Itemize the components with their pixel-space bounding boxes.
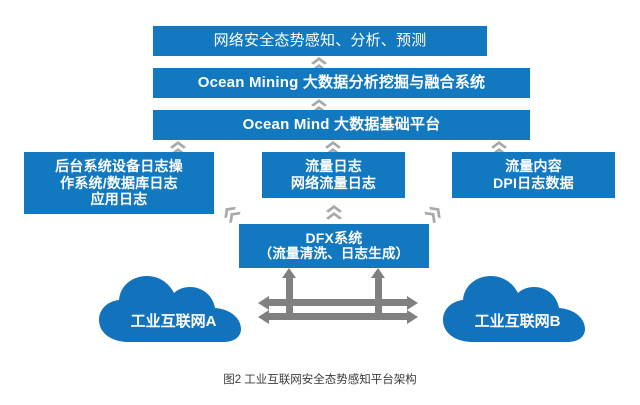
arrowhead-up-right-icon bbox=[371, 268, 385, 278]
arrow-stem-left-to-dfx bbox=[286, 276, 293, 314]
figure-caption: 图2 工业互联网安全态势感知平台架构 bbox=[0, 371, 640, 387]
source-box-backend-logs-line-2: 作系统/数据库日志 bbox=[60, 175, 178, 192]
layer-bar-ocean-mining: Ocean Mining 大数据分析挖掘与融合系统 bbox=[153, 68, 530, 98]
layer-bar-ocean-mind: Ocean Mind 大数据基础平台 bbox=[153, 110, 530, 140]
arrowhead-up-left-icon bbox=[282, 268, 296, 278]
arrow-bar-lower-horizontal bbox=[268, 313, 408, 320]
dfx-system-box: DFX系统 （流量清洗、日志生成） bbox=[239, 224, 429, 268]
source-box-traffic-content-line-1: 流量内容 bbox=[505, 158, 562, 175]
source-box-backend-logs-line-3: 应用日志 bbox=[91, 191, 148, 208]
arrowhead-right-lower-icon bbox=[407, 310, 418, 324]
source-box-traffic-content: 流量内容 DPI日志数据 bbox=[452, 152, 615, 198]
arrow-stem-right-to-dfx bbox=[375, 276, 382, 314]
source-box-backend-logs-line-1: 后台系统设备日志操 bbox=[55, 158, 183, 175]
arrowhead-left-lower-icon bbox=[258, 310, 269, 324]
source-box-traffic-logs-line-1: 流量日志 bbox=[305, 158, 362, 175]
architecture-diagram: 网络安全态势感知、分析、预测 Ocean Mining 大数据分析挖掘与融合系统… bbox=[0, 0, 640, 405]
chevron-up-right-icon-dfx-to-traffic-content bbox=[422, 201, 447, 226]
dfx-system-subtitle: （流量清洗、日志生成） bbox=[259, 246, 410, 262]
chevron-up-icon-dfx-to-traffic-logs bbox=[325, 204, 343, 221]
layer-bar-ocean-mind-label: Ocean Mind 大数据基础平台 bbox=[243, 116, 441, 134]
layer-bar-situation-awareness: 网络安全态势感知、分析、预测 bbox=[153, 26, 487, 56]
layer-bar-situation-awareness-label: 网络安全态势感知、分析、预测 bbox=[214, 32, 427, 50]
source-box-traffic-content-line-2: DPI日志数据 bbox=[493, 175, 574, 192]
layer-bar-ocean-mining-label: Ocean Mining 大数据分析挖掘与融合系统 bbox=[198, 74, 486, 92]
arrowhead-left-upper-icon bbox=[258, 296, 269, 310]
arrowhead-right-upper-icon bbox=[407, 296, 418, 310]
cloud-industrial-internet-a: 工业互联网A bbox=[96, 272, 251, 344]
source-box-backend-logs: 后台系统设备日志操 作系统/数据库日志 应用日志 bbox=[24, 152, 214, 214]
source-box-traffic-logs: 流量日志 网络流量日志 bbox=[262, 152, 405, 198]
arrow-bar-upper-horizontal bbox=[268, 299, 408, 306]
dfx-system-title: DFX系统 bbox=[306, 230, 363, 247]
chevron-up-left-icon-dfx-to-backend bbox=[219, 201, 244, 226]
cloud-industrial-internet-b: 工业互联网B bbox=[440, 272, 595, 344]
source-box-traffic-logs-line-2: 网络流量日志 bbox=[291, 175, 376, 192]
